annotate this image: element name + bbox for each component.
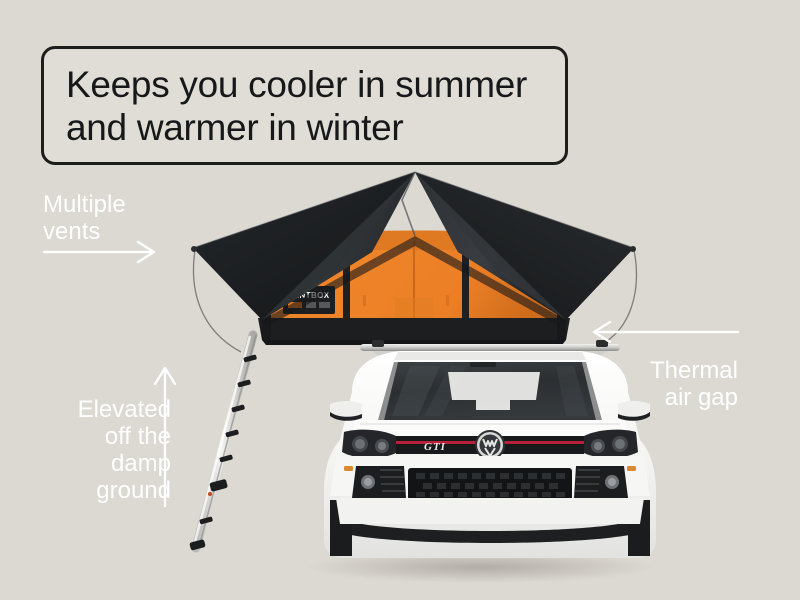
headline-line-1: Keeps you cooler in summer xyxy=(66,63,543,106)
side-marker-right xyxy=(627,466,636,471)
gti-badge: GTI xyxy=(424,441,446,453)
headline-callout: Keeps you cooler in summer and warmer in… xyxy=(41,46,568,165)
thermal-label-line-2: air gap xyxy=(601,384,738,411)
elevated-label-line-4: ground xyxy=(20,477,171,504)
arrow-left-icon xyxy=(590,320,740,344)
wing-tip-left xyxy=(191,246,197,252)
elevated-label-line-3: damp xyxy=(20,450,171,477)
headlight-right xyxy=(582,430,638,458)
rooftop-tent: TENTBOX xyxy=(191,172,636,352)
elevated-label-line-2: off the xyxy=(20,423,171,450)
image-canvas: TENTBOX xyxy=(0,0,800,600)
tent-base-band xyxy=(258,318,570,340)
tent-ladder xyxy=(189,335,257,551)
elevated-label-line-1: Elevated xyxy=(20,396,171,423)
wing-tip-right xyxy=(630,246,636,252)
annotation-elevated-ground: Elevated off the damp ground xyxy=(20,396,171,504)
side-marker-left xyxy=(344,466,353,471)
mirror-left xyxy=(330,401,362,417)
fog-light-left xyxy=(352,466,406,498)
arrow-up-icon xyxy=(152,366,178,508)
annotation-multiple-vents: Multiple vents xyxy=(43,191,126,245)
fog-light-right xyxy=(574,466,628,498)
headline-line-2: and warmer in winter xyxy=(66,106,543,149)
arrow-right-icon xyxy=(42,240,160,264)
vents-label-line-1: Multiple xyxy=(43,191,126,218)
lower-grille xyxy=(408,468,572,500)
vw-emblem xyxy=(475,430,505,460)
headlight-left xyxy=(342,430,398,458)
annotation-thermal-air-gap: Thermal air gap xyxy=(601,357,738,411)
thermal-label-line-1: Thermal xyxy=(601,357,738,384)
